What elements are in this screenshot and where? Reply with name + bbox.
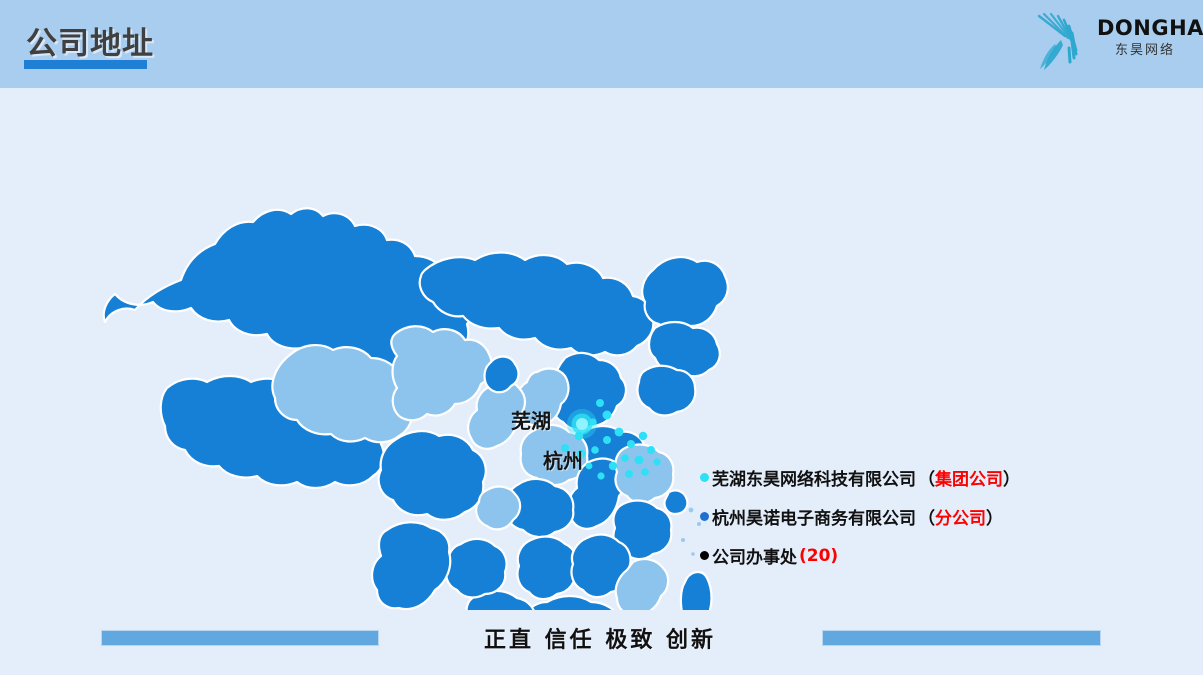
- legend-bullet-icon: [700, 551, 709, 560]
- china-map-svg: [95, 110, 735, 610]
- city-label-wuhu: 芜湖: [511, 405, 551, 434]
- office-dot: [653, 458, 660, 465]
- office-dot: [647, 446, 655, 454]
- legend-label: 芜湖东昊网络科技有限公司: [712, 465, 916, 490]
- office-dot: [641, 468, 649, 476]
- legend-tag: （分公司）: [918, 504, 1003, 529]
- office-dot: [586, 463, 593, 470]
- legend-label: 杭州昊诺电子商务有限公司: [712, 504, 916, 529]
- footer-bar-right: [822, 630, 1101, 646]
- page-title: 公司地址: [26, 18, 154, 63]
- slide-header: 公司地址: [0, 0, 1203, 88]
- address-legend: 芜湖东昊网络科技有限公司 （集团公司） 杭州昊诺电子商务有限公司 （分公司） 公…: [700, 458, 1170, 575]
- province-guizhou: [446, 539, 506, 598]
- province-shanghai: [664, 490, 687, 514]
- office-dot: [627, 440, 635, 448]
- province-liaoning: [637, 366, 695, 416]
- legend-item-offices: 公司办事处 (20): [700, 536, 1170, 575]
- office-dot: [596, 399, 604, 407]
- legend-label: 公司办事处: [712, 543, 797, 568]
- legend-tag-open: （: [918, 509, 935, 529]
- province-heilongjiang: [642, 257, 728, 331]
- headquarters-marker: [567, 409, 597, 439]
- legend-item-branch-company: 杭州昊诺电子商务有限公司 （分公司）: [700, 497, 1170, 536]
- legend-tag-close: ）: [986, 509, 1003, 529]
- title-underline-accent: [24, 60, 147, 69]
- office-dot: [615, 428, 624, 437]
- logo-wordmark: DONGHAO 东昊网络: [1097, 18, 1193, 57]
- office-dot: [639, 432, 647, 440]
- footer-bar-left: [101, 630, 379, 646]
- legend-tag-open: （: [918, 470, 935, 490]
- legend-tag-highlight: 分公司: [935, 509, 986, 529]
- legend-bullet-icon: [700, 512, 709, 521]
- province-hunan: [517, 537, 576, 600]
- logo-chinese-name: 东昊网络: [1097, 44, 1193, 57]
- province-taiwan: [681, 572, 712, 610]
- wing-feather-logo-icon: [1035, 10, 1101, 76]
- legend-tag-highlight: 集团公司: [935, 470, 1003, 490]
- legend-tag-close: ）: [1003, 470, 1020, 490]
- office-dot: [621, 454, 629, 462]
- office-dot: [597, 472, 604, 479]
- legend-item-group-company: 芜湖东昊网络科技有限公司 （集团公司）: [700, 458, 1170, 497]
- company-logo: DONGHAO 东昊网络: [1031, 8, 1191, 80]
- legend-tag-highlight: (20): [799, 546, 838, 566]
- office-dot: [603, 436, 611, 444]
- footer-slogan: 正直 信任 极致 创新: [440, 622, 760, 654]
- china-map: 芜湖 杭州: [95, 110, 735, 610]
- province-yunnan: [372, 522, 450, 609]
- office-dot: [603, 411, 612, 420]
- legend-bullet-icon: [700, 473, 709, 482]
- logo-english-name: DONGHAO: [1097, 18, 1193, 39]
- legend-tag: (20): [799, 546, 838, 566]
- office-dot: [591, 446, 599, 454]
- city-label-hangzhou: 杭州: [543, 445, 583, 474]
- office-dot: [635, 456, 644, 465]
- slide-canvas: 公司地址: [0, 0, 1203, 675]
- office-dot: [609, 462, 617, 470]
- legend-tag: （集团公司）: [918, 465, 1020, 490]
- office-dot: [625, 470, 633, 478]
- province-sichuan: [379, 431, 486, 520]
